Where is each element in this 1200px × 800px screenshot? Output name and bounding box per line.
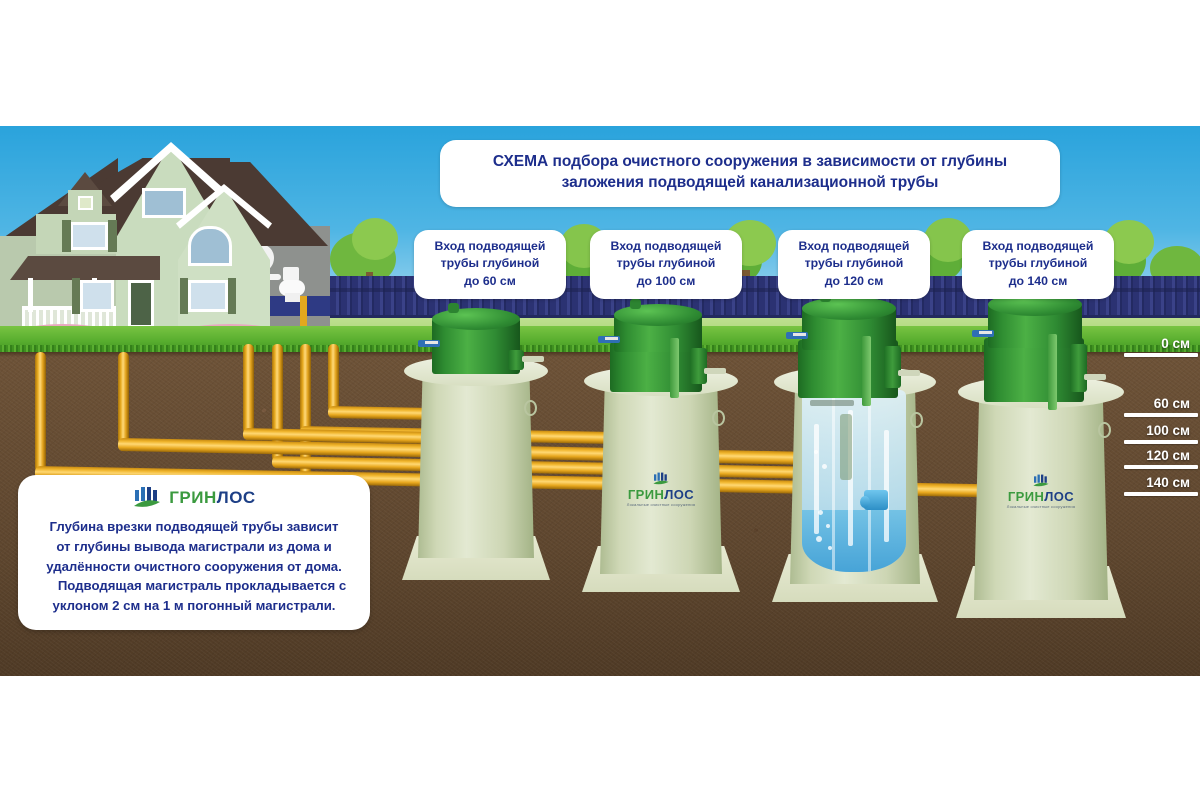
info-line-5: уклоном 2 см на 1 м погонный магистрали.	[32, 596, 356, 616]
callout-100: Вход подводящей трубы глубиной до 100 см	[590, 230, 742, 299]
tank-inlet-valve	[972, 330, 994, 337]
house-illustration	[0, 128, 330, 354]
tank-outlet-pipe	[704, 368, 726, 374]
house-shutter	[108, 220, 117, 252]
house-shutter	[72, 278, 80, 314]
callout-line-3: до 60 см	[420, 273, 560, 290]
house-shutter	[228, 278, 236, 314]
callout-line-1: Вход подводящей	[968, 238, 1108, 255]
toilet-base	[285, 293, 300, 302]
depth-label-60: 60 см	[1098, 396, 1190, 411]
callout-60: Вход подводящей трубы глубиной до 60 см	[414, 230, 566, 299]
callout-140: Вход подводящей трубы глубиной до 140 см	[962, 230, 1114, 299]
callout-line-1: Вход подводящей	[420, 238, 560, 255]
tank-lid	[802, 297, 896, 320]
depth-tick-100	[1124, 440, 1198, 444]
tank-body	[418, 368, 534, 558]
depth-label-0: 0 см	[1108, 336, 1190, 351]
callout-line-1: Вход подводящей	[784, 238, 924, 255]
toilet-tank	[283, 267, 299, 281]
infographic-root: ГРИНЛОС Локальные очистные сооружения	[0, 0, 1200, 800]
callout-line-1: Вход подводящей	[596, 238, 736, 255]
brand-logo: ГРИНЛОС	[32, 486, 356, 510]
tank-bubble	[818, 510, 823, 515]
tank-rib-fin	[1048, 334, 1057, 410]
house-porch-post	[28, 278, 33, 312]
tank-rib-fin	[670, 338, 679, 398]
brand-mark-icon	[652, 472, 670, 486]
house-door	[128, 280, 154, 328]
treatment-unit-3	[768, 308, 946, 608]
brand-wordmark: ГРИНЛОС	[616, 488, 706, 501]
tank-bubble	[816, 536, 822, 542]
tank-outlet-box	[884, 346, 901, 388]
pipe-vertical-3	[300, 344, 311, 492]
depth-label-120: 120 см	[1090, 448, 1190, 463]
title-line-1: СХЕМА подбора очистного сооружения в зав…	[458, 151, 1042, 172]
tank-airlift-tube	[884, 430, 889, 542]
tank-bubble	[822, 464, 827, 469]
brand-mark-icon	[132, 486, 162, 510]
tank-inlet-valve	[418, 340, 440, 347]
depth-tick-60	[1124, 413, 1198, 417]
depth-label-140: 140 см	[1090, 475, 1190, 490]
title-line-2: заложения подводящей канализационной тру…	[458, 172, 1042, 193]
house-window	[142, 188, 186, 218]
tank-inlet-valve	[786, 332, 808, 339]
callout-line-2: трубы глубиной	[784, 255, 924, 272]
tank-lid-knob	[630, 299, 641, 309]
pipe-vertical-4	[328, 344, 339, 412]
pipe-vertical-6	[118, 352, 129, 444]
tank-outlet-pipe	[1084, 374, 1106, 380]
house-window	[80, 280, 114, 312]
illustration-canvas: ГРИНЛОС Локальные очистные сооружения	[0, 126, 1200, 676]
tank-inner-chamber-wall	[868, 390, 871, 572]
tank-inner-chamber-wall	[832, 390, 835, 572]
callout-line-2: трубы глубиной	[420, 255, 560, 272]
depth-label-100: 100 см	[1090, 423, 1190, 438]
info-line-3: удалённости очистного сооружения от дома…	[32, 557, 356, 577]
tank-outlet-pipe	[522, 356, 544, 362]
tank-outlet-pipe	[898, 370, 920, 376]
pipe-vertical-5	[35, 352, 46, 472]
house-dormer-window	[78, 196, 93, 210]
callout-line-2: трубы глубиной	[968, 255, 1108, 272]
tank-inlet-valve	[598, 336, 620, 343]
tank-lid	[432, 308, 520, 330]
tank-cutaway-window	[802, 390, 906, 572]
tank-outlet-box	[690, 348, 707, 384]
depth-tick-120	[1124, 465, 1198, 469]
brand-wordmark: ГРИНЛОС	[994, 490, 1088, 503]
tank-top-baffle	[810, 400, 854, 406]
chart-title-box: СХЕМА подбора очистного сооружения в зав…	[440, 140, 1060, 207]
treatment-unit-1	[398, 318, 558, 584]
tree-blob	[352, 218, 398, 260]
tank-lid	[614, 304, 702, 326]
treatment-unit-4: ГРИНЛОС Локальные очистные сооружения	[952, 304, 1134, 626]
depth-tick-0	[1124, 353, 1198, 357]
brand-tagline: Локальные очистные сооружения	[994, 504, 1088, 509]
tank-outlet-box	[1070, 344, 1087, 392]
tank-airlift-tube	[814, 424, 819, 534]
brand-wordmark: ГРИНЛОС	[169, 488, 255, 508]
house-window	[188, 226, 232, 266]
house-window	[70, 222, 108, 250]
callout-120: Вход подводящей трубы глубиной до 120 см	[778, 230, 930, 299]
info-line-2: от глубины вывода магистрали из дома и	[32, 537, 356, 557]
callout-line-3: до 120 см	[784, 273, 924, 290]
house-shutter	[62, 220, 71, 252]
tank-bubble	[826, 524, 830, 528]
tank-rib-fin	[862, 336, 871, 406]
callout-line-2: трубы глубиной	[596, 255, 736, 272]
info-line-4: Подводящая магистраль прокладывается с	[32, 576, 356, 596]
tank-brand-logo: ГРИНЛОС Локальные очистные сооружения	[616, 472, 706, 507]
depth-tick-140	[1124, 492, 1198, 496]
callout-line-3: до 140 см	[968, 273, 1108, 290]
house-window	[188, 280, 228, 312]
pipe-vertical-1	[243, 344, 254, 434]
tank-filter-media	[840, 414, 852, 480]
tank-lift-eyelet	[910, 412, 923, 428]
house-shutter	[180, 278, 188, 314]
house-porch-roof	[10, 256, 160, 280]
brand-mark-icon	[1032, 474, 1050, 488]
info-line-1: Глубина врезки подводящей трубы зависит	[32, 517, 356, 537]
tank-bubble	[814, 450, 818, 454]
info-note-box: ГРИНЛОС Глубина врезки подводящей трубы …	[18, 475, 370, 630]
tank-bubble	[828, 546, 832, 550]
tank-lid-knob	[448, 303, 459, 313]
treatment-unit-2: ГРИНЛОС Локальные очистные сооружения	[578, 314, 748, 596]
brand-tagline: Локальные очистные сооружения	[616, 502, 706, 507]
tank-brand-logo: ГРИНЛОС Локальные очистные сооружения	[994, 474, 1088, 509]
callout-line-3: до 100 см	[596, 273, 736, 290]
tank-lift-eyelet	[712, 410, 725, 426]
tank-lift-eyelet	[524, 400, 537, 416]
tank-pump-intake	[860, 496, 870, 508]
